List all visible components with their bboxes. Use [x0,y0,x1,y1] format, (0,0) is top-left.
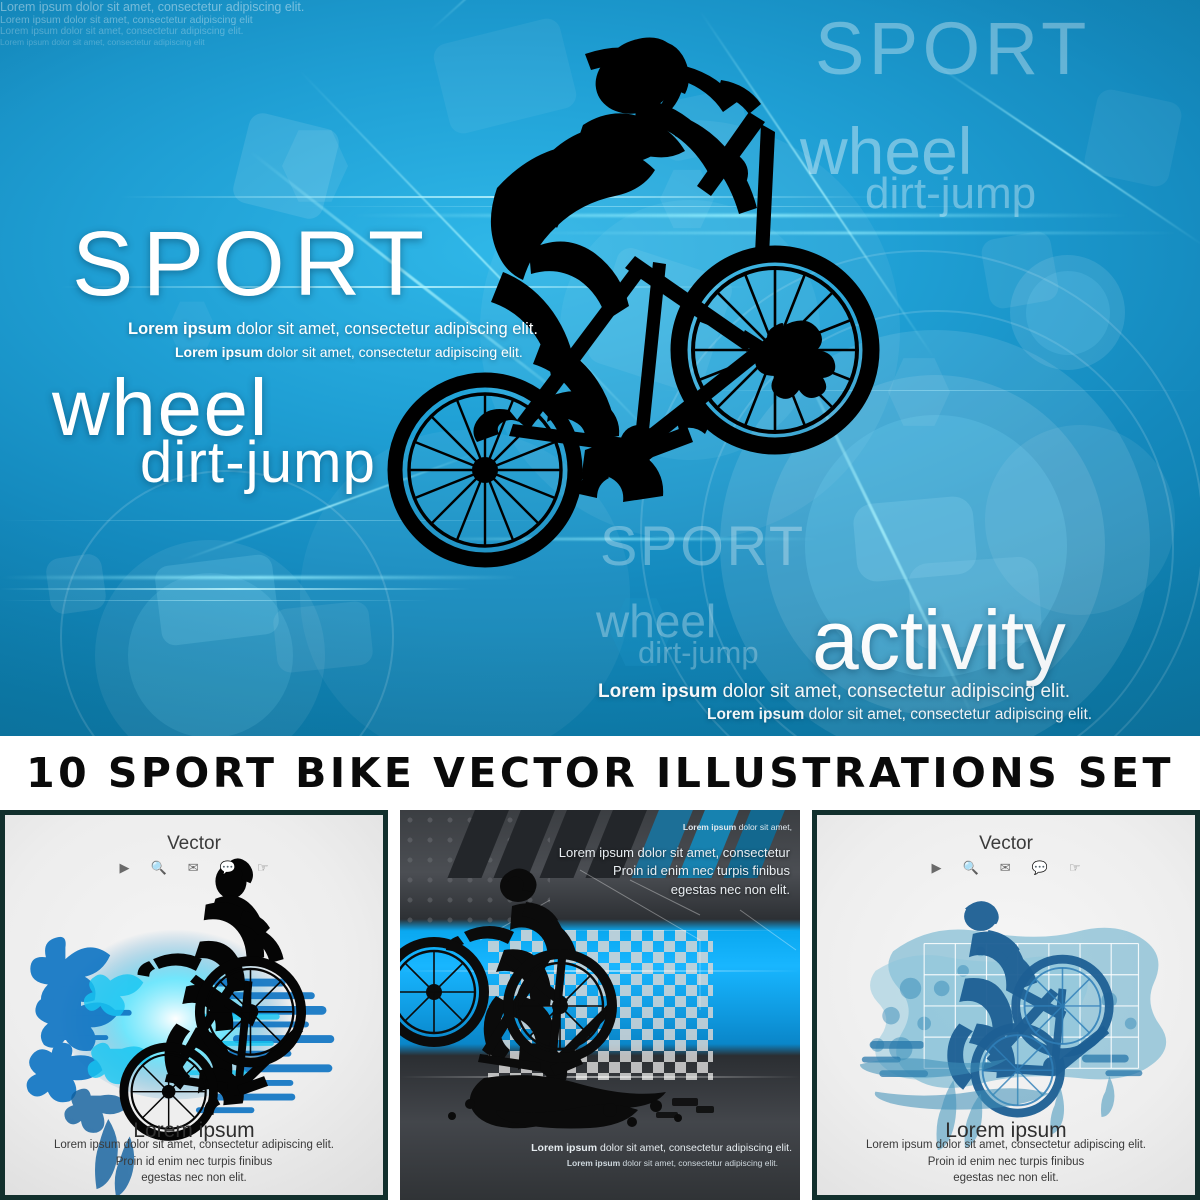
hero-lorem-rest-4: dolor sit amet, consectetur adipiscing e… [804,706,1092,723]
hero-dirtjump-headline: dirt-jump [140,434,376,492]
thumbnail-left[interactable]: Vector ▶ 🔍 ✉ 💬 ☞ Lorem ipsum Lorem ipsum… [0,810,388,1200]
thumbnail-right-subtext: Lorem ipsum dolor sit amet, consectetur … [817,1137,1195,1187]
ghost-dirtjump-label-center: dirt-jump [638,637,759,668]
thumbnail-middle-top-line-2: Proin id enim nec turpis finibus [559,862,790,880]
thumbnail-middle[interactable]: Lorem ipsum dolor sit amet, Lorem ipsum … [400,810,800,1200]
magnifier-icon[interactable]: 🔍 [151,861,167,874]
hero-lorem-rest-2: dolor sit amet, consectetur adipiscing e… [263,344,523,360]
decor-square [979,229,1060,310]
thumbnail-strip: Vector ▶ 🔍 ✉ 💬 ☞ Lorem ipsum Lorem ipsum… [0,810,1200,1200]
user-cursor-icon[interactable]: ☞ [257,861,269,874]
page-title: 10 SPORT BIKE VECTOR ILLUSTRATIONS SET [26,749,1174,797]
thumbnail-middle-tagline-bold: Lorem ipsum [683,822,736,832]
hero-lorem-bold-4: Lorem ipsum [707,706,804,723]
play-icon[interactable]: ▶ [932,861,942,874]
thumbnail-gap-1 [388,810,400,1200]
thumbnail-right-vector-label: Vector [817,833,1195,855]
hero-lorem-line-1: Lorem ipsum dolor sit amet, consectetur … [128,320,538,339]
thumbnail-right[interactable]: Vector ▶ 🔍 ✉ 💬 ☞ Lorem ipsum Lorem ipsum… [812,810,1200,1200]
thumbnail-right-icon-row[interactable]: ▶ 🔍 ✉ 💬 ☞ [817,861,1195,874]
hero-lorem-rest-3: dolor sit amet, consectetur adipiscing e… [717,681,1070,702]
speech-bubble-icon[interactable]: 💬 [1032,861,1048,874]
thumbnail-left-vector-label: Vector [5,833,383,855]
magnifier-icon[interactable]: 🔍 [963,861,979,874]
thumbnail-left-subline-2: Proin id enim nec turpis finibus [5,1154,383,1171]
hero-lorem-line-2: Lorem ipsum dolor sit amet, consectetur … [175,344,523,360]
preview-page: SPORT Lorem ipsum dolor sit amet, consec… [0,0,1200,1200]
thumbnail-right-subline-1: Lorem ipsum dolor sit amet, consectetur … [817,1137,1195,1154]
play-icon[interactable]: ▶ [120,861,130,874]
thumbnail-middle-bottom-bold-1: Lorem ipsum [531,1142,597,1154]
hero-sport-headline: SPORT [72,218,433,310]
hero-lorem-line-4: Lorem ipsum dolor sit amet, consectetur … [707,706,1092,724]
thumbnail-middle-top-text: Lorem ipsum dolor sit amet, consectetur … [559,844,790,899]
envelope-icon[interactable]: ✉ [188,861,199,874]
user-cursor-icon[interactable]: ☞ [1069,861,1081,874]
thumbnail-middle-top-line-1: Lorem ipsum dolor sit amet, consectetur [559,844,790,862]
hero-illustration: SPORT Lorem ipsum dolor sit amet, consec… [0,0,1200,736]
thumbnail-left-subtext: Lorem ipsum dolor sit amet, consectetur … [5,1137,383,1187]
hero-lorem-bold-1: Lorem ipsum [128,320,232,338]
thumbnail-middle-bottom-bold-2: Lorem ipsum [567,1158,620,1168]
thumbnail-middle-top-line-3: egestas nec non elit. [559,881,790,899]
thumbnail-middle-tagline: Lorem ipsum dolor sit amet, [683,822,792,832]
thumbnail-right-subline-3: egestas nec non elit. [817,1170,1195,1187]
decor-square [272,600,374,674]
thumbnail-left-subline-3: egestas nec non elit. [5,1170,383,1187]
decor-light-streak [0,600,430,601]
thumbnail-left-icon-row[interactable]: ▶ 🔍 ✉ 💬 ☞ [5,861,383,874]
thumbnail-gap-2 [800,810,812,1200]
envelope-icon[interactable]: ✉ [1000,861,1011,874]
thumbnail-middle-bottom-rest-1: dolor sit amet, consectetur adipiscing e… [597,1142,792,1154]
hero-lorem-bold-3: Lorem ipsum [598,681,717,702]
hero-lorem-rest-1: dolor sit amet, consectetur adipiscing e… [232,320,538,338]
thumbnail-middle-bottom-rest-2: dolor sit amet, consectetur adipiscing e… [620,1158,778,1168]
thumbnail-right-subline-2: Proin id enim nec turpis finibus [817,1154,1195,1171]
thumbnail-middle-tagline-rest: dolor sit amet, [736,822,792,832]
thumbnail-middle-bottom-line-2: Lorem ipsum dolor sit amet, consectetur … [567,1158,778,1168]
thumbnail-left-subline-1: Lorem ipsum dolor sit amet, consectetur … [5,1137,383,1154]
speech-bubble-icon[interactable]: 💬 [220,861,236,874]
decor-square [44,552,107,615]
title-band: 10 SPORT BIKE VECTOR ILLUSTRATIONS SET [0,736,1200,810]
hero-activity-headline: activity [812,598,1065,682]
thumbnail-middle-bottom-line-1: Lorem ipsum dolor sit amet, consectetur … [531,1142,792,1154]
hero-lorem-bold-2: Lorem ipsum [175,344,263,360]
hero-lorem-line-3: Lorem ipsum dolor sit amet, consectetur … [598,681,1070,703]
